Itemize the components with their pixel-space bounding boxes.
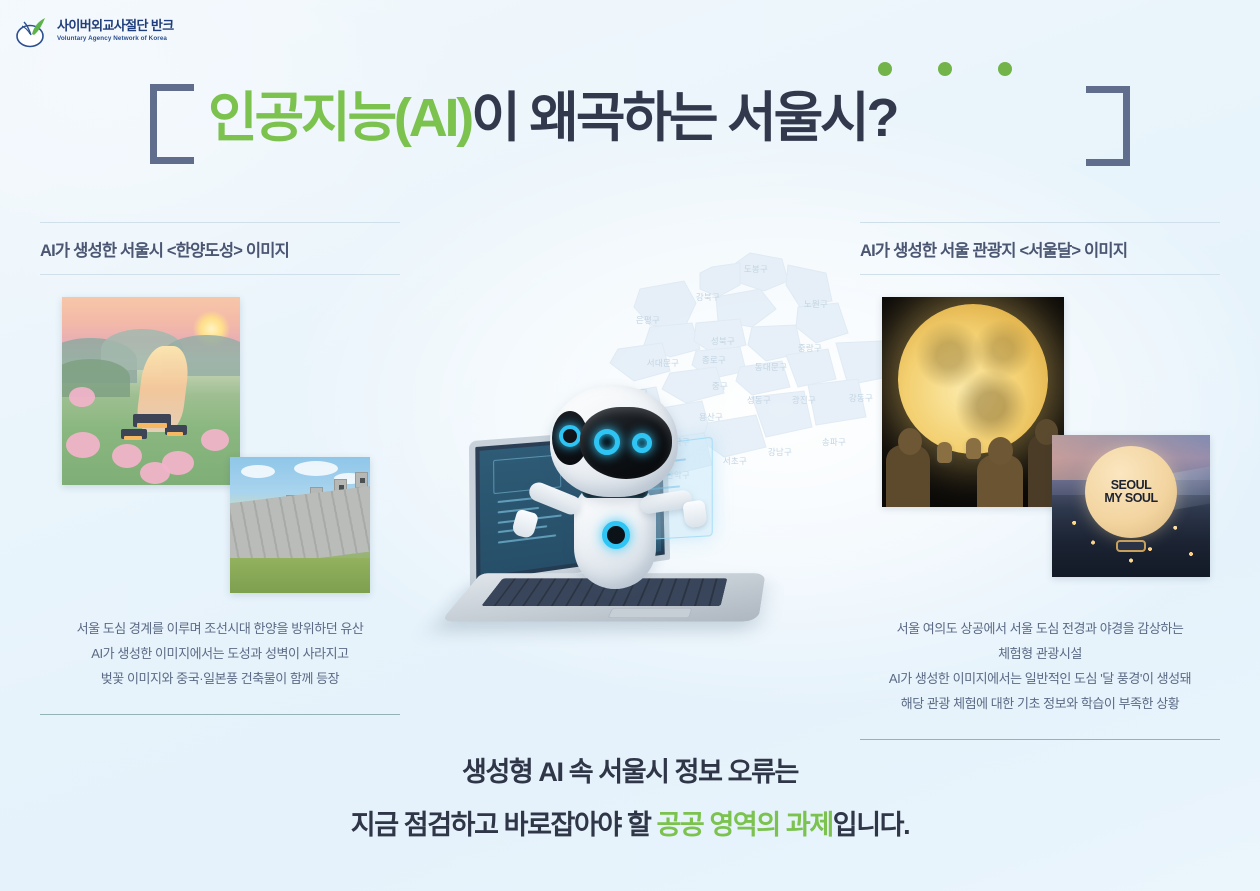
image-stack: → AI 생성 이미지	[40, 297, 400, 607]
robot-laptop-illustration	[462, 385, 792, 675]
dot-icon	[938, 62, 952, 76]
balloon-text-line2: MY SOUL	[1104, 492, 1157, 505]
panel-seoul-moon: AI가 생성한 서울 관광지 <서울달> 이미지 → AI 생성 이미지	[860, 222, 1220, 740]
real-photo-hanyangdoseong-wall	[230, 457, 370, 593]
page-title: 인공지능(AI)이 왜곡하는 서울시?	[208, 90, 896, 147]
body-line: 서울 여의도 상공에서 서울 도심 전경과 야경을 감상하는	[860, 617, 1220, 642]
panel-hanyangdoseong: AI가 생성한 서울시 <한양도성> 이미지	[40, 222, 400, 715]
robot-icon	[536, 385, 716, 615]
map-district-label: 은평구	[636, 314, 660, 326]
map-district-label: 동대문구	[755, 361, 787, 373]
ai-generated-image-hanyangdoseong	[62, 297, 240, 485]
logo-name-en: Voluntary Agency Network of Korea	[57, 35, 174, 43]
title-accent: 인공지능(AI)	[208, 88, 471, 148]
title-rest: 이 왜곡하는 서울시?	[471, 88, 896, 148]
panel-body-text: 서울 도심 경계를 이루며 조선시대 한양을 방위하던 유산 AI가 생성한 이…	[40, 617, 400, 692]
vank-logo: 사이버외교사절단 반크 Voluntary Agency Network of …	[14, 14, 174, 48]
sprout-globe-icon	[14, 14, 50, 48]
ai-generated-image-seoul-moon	[882, 297, 1064, 507]
balloon-text-line1: SEOUL	[1111, 479, 1152, 492]
divider	[860, 274, 1220, 275]
conclusion-highlight: 공공 영역의 과제	[656, 810, 832, 840]
body-line: 서울 도심 경계를 이루며 조선시대 한양을 방위하던 유산	[40, 617, 400, 642]
map-district-label: 강북구	[696, 291, 720, 303]
logo-name-ko: 사이버외교사절단 반크	[57, 19, 174, 34]
conclusion-text-after: 입니다.	[833, 810, 909, 840]
panel-heading: AI가 생성한 서울시 <한양도성> 이미지	[40, 237, 400, 274]
dot-decoration	[878, 62, 1012, 76]
conclusion-line-2: 지금 점검하고 바로잡아야 할 공공 영역의 과제입니다.	[0, 805, 1260, 846]
dot-icon	[878, 62, 892, 76]
panel-heading: AI가 생성한 서울 관광지 <서울달> 이미지	[860, 237, 1220, 274]
body-line: 벚꽃 이미지와 중국·일본풍 건축물이 함께 등장	[40, 667, 400, 692]
divider	[40, 222, 400, 223]
divider	[40, 274, 400, 275]
body-line: 해당 관광 체험에 대한 기초 정보와 학습이 부족한 상황	[860, 692, 1220, 717]
divider	[860, 739, 1220, 740]
infographic-poster: 도봉구강북구노원구은평구성북구중랑구서대문구종로구동대문구마포구중구성동구광진구…	[0, 0, 1260, 891]
divider	[40, 714, 400, 715]
body-line: 체험형 관광시설	[860, 642, 1220, 667]
panel-body-text: 서울 여의도 상공에서 서울 도심 전경과 야경을 감상하는 체험형 관광시설 …	[860, 617, 1220, 717]
divider	[860, 222, 1220, 223]
bracket-right-decoration	[1086, 86, 1130, 166]
map-district-label: 종로구	[702, 354, 726, 366]
map-district-label: 성북구	[711, 335, 735, 347]
body-line: AI가 생성한 이미지에서는 일반적인 도심 '달 풍경'이 생성돼	[860, 667, 1220, 692]
conclusion-text-before: 지금 점검하고 바로잡아야 할	[351, 810, 657, 840]
title-block: 인공지능(AI)이 왜곡하는 서울시?	[150, 62, 1130, 180]
conclusion-line-1: 생성형 AI 속 서울시 정보 오류는	[0, 752, 1260, 793]
real-photo-seoul-moon-balloon: SEOUL MY SOUL	[1052, 435, 1210, 577]
bracket-left-decoration	[150, 84, 194, 164]
image-stack: → AI 생성 이미지 SEOUL MY SOUL	[860, 297, 1220, 607]
map-district-label: 송파구	[822, 436, 846, 448]
map-district-label: 중랑구	[798, 342, 822, 354]
map-district-label: 노원구	[804, 298, 828, 310]
conclusion-block: 생성형 AI 속 서울시 정보 오류는 지금 점검하고 바로잡아야 할 공공 영…	[0, 752, 1260, 845]
map-district-label: 도봉구	[744, 263, 768, 275]
dot-icon	[998, 62, 1012, 76]
body-line: AI가 생성한 이미지에서는 도성과 성벽이 사라지고	[40, 642, 400, 667]
map-district-label: 서대문구	[647, 357, 679, 369]
map-district-label: 광진구	[792, 394, 816, 406]
